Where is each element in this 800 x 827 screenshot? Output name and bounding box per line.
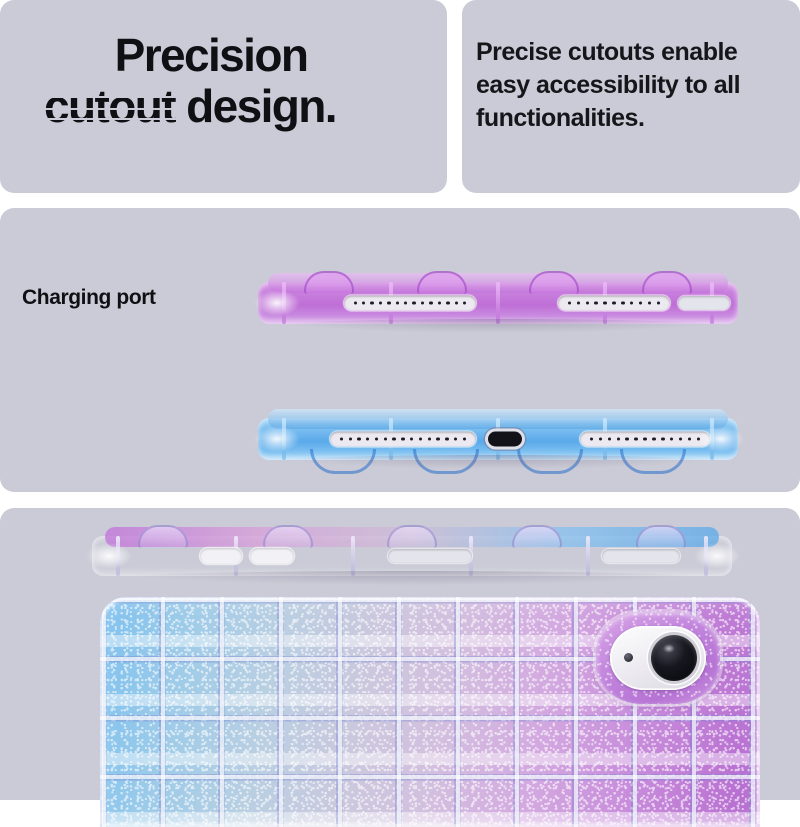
headline-panel: Precision cutout design. [0,0,447,193]
speaker-grille-left [344,296,476,311]
smart-connector-cutout [388,549,472,563]
blue-edge-shadow [272,455,723,469]
description-panel: Precise cutouts enable easy accessibilit… [462,0,800,193]
mic-slot-cutout [602,549,680,563]
speaker-grille-right [558,296,670,311]
camera-flash-icon [624,653,633,662]
camera-plate [610,626,706,690]
blue-edge-top-glass [268,409,729,429]
headline-line-2: cutout design. [44,81,434,132]
blue-edge-corner-gloss [254,426,300,452]
purple-edge-shadow [272,319,723,333]
blue-tablet-edge-view [258,418,738,460]
purple-edge-top-glass [268,273,729,293]
headline-stencil-text: cutout [44,80,175,132]
headline-line-2-tail: design. [175,80,336,132]
usb-c-charging-port [488,432,522,447]
speaker-grille-left [330,432,476,447]
blue-edge-corner-gloss-right [698,426,744,452]
gradient-tablet-edge-view [92,536,732,576]
headline-line-1: Precision [44,30,434,81]
headline-stencil-word: cutout [44,81,175,132]
gradient-edge-shadow [111,571,713,585]
volume-button-cutout-up [200,548,242,564]
gradient-edge-top-glass [105,527,719,547]
gradient-edge-corner-gloss-right [694,543,740,569]
camera-island [596,612,720,704]
description-text: Precise cutouts enable easy accessibilit… [476,36,792,134]
purple-tablet-edge-view [258,282,738,324]
speaker-grille-right [580,432,710,447]
purple-edge-corner-gloss [254,290,300,316]
lens-glint [663,644,675,653]
camera-lens-icon [651,635,697,681]
product-feature-page: Precision cutout design. Precise cutouts… [0,0,800,800]
gradient-edge-corner-gloss-left [86,543,132,569]
volume-button-cutout-down [250,548,294,564]
charging-port-label: Charging port [22,286,156,310]
smart-connector-cutout [678,296,730,310]
page-title: Precision cutout design. [44,30,434,132]
